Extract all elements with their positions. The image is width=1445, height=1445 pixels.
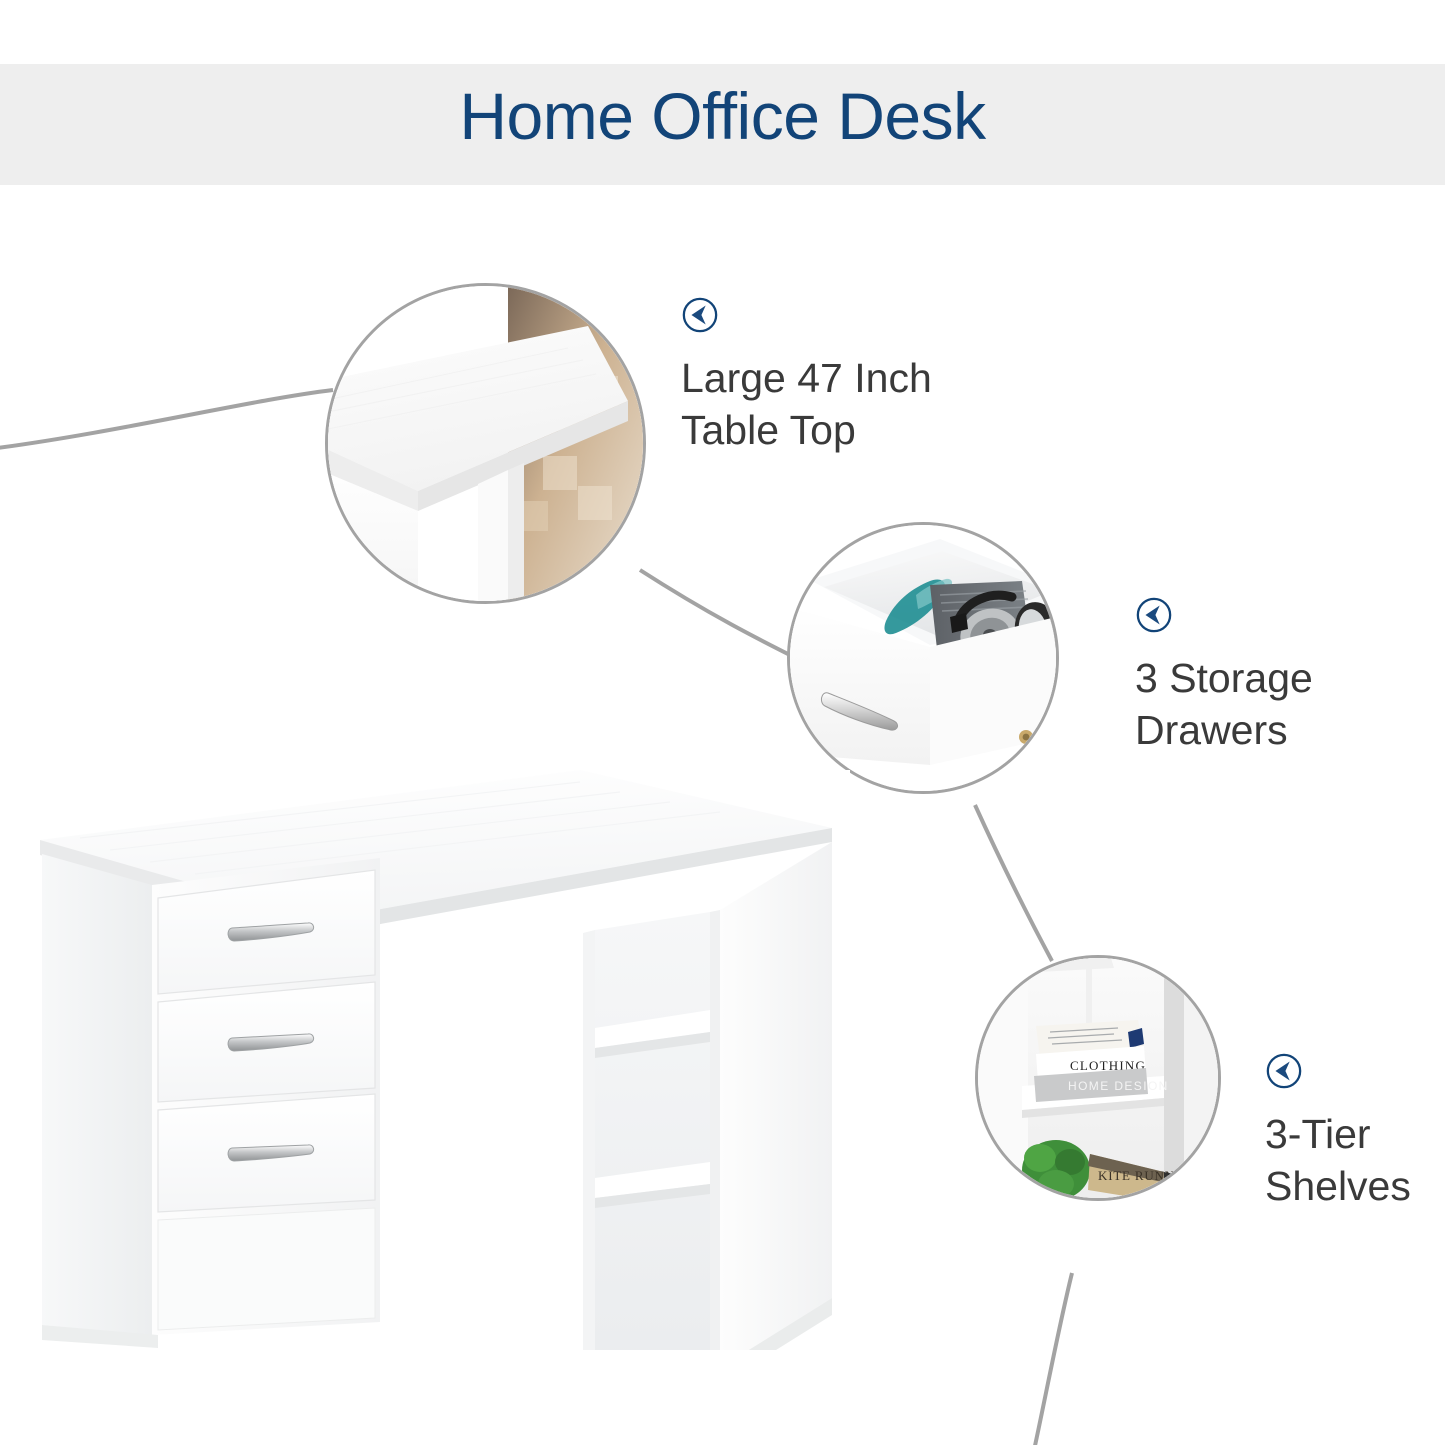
arrow-left-circle-icon (681, 296, 719, 334)
connector-left-to-circle1 (0, 390, 333, 449)
product-image-desk (20, 770, 850, 1350)
arrow-left-circle-icon (1135, 596, 1173, 634)
callout-circle-table-top (325, 283, 646, 604)
callout-text-storage-drawers: 3 Storage Drawers (1135, 652, 1313, 757)
product-infographic: Home Office Desk (0, 0, 1445, 1445)
callout-circle-storage-drawers: NTIQUE (787, 522, 1059, 794)
callout-text-table-top: Large 47 Inch Table Top (681, 352, 932, 457)
arrow-left-circle-icon (1265, 1052, 1303, 1090)
callout-circle-tier-shelves: CLOTHING HOME DESION KITE RUNNER (975, 955, 1221, 1201)
callout-label-tier-shelves: 3-Tier Shelves (1265, 1052, 1411, 1213)
detail-photo-table-top (328, 286, 643, 601)
callout-label-storage-drawers: 3 Storage Drawers (1135, 596, 1313, 757)
callout-text-tier-shelves: 3-Tier Shelves (1265, 1108, 1411, 1213)
connector-circle2-to-circle3 (975, 805, 1052, 961)
detail-book-label-home-design: HOME DESION (1068, 1079, 1169, 1093)
connector-circle3-to-bottom (1033, 1273, 1072, 1445)
detail-photo-storage-drawers: NTIQUE (790, 525, 1056, 791)
detail-photo-tier-shelves: CLOTHING HOME DESION KITE RUNNER (978, 958, 1218, 1198)
page-title: Home Office Desk (0, 78, 1445, 154)
connector-circle1-to-circle2 (640, 570, 800, 660)
callout-label-table-top: Large 47 Inch Table Top (681, 296, 932, 457)
